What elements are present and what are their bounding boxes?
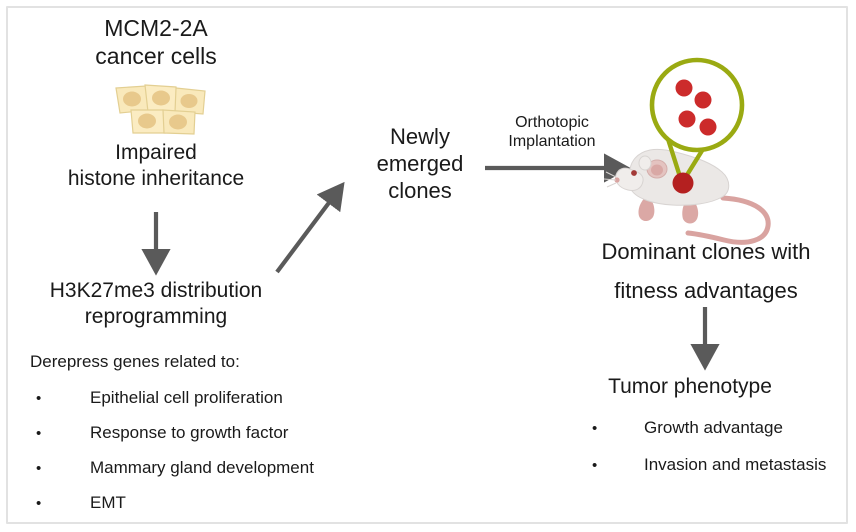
list-item-label: Invasion and metastasis xyxy=(644,455,826,475)
h3k27me3-reprogramming-label: H3K27me3 distribution reprogramming xyxy=(6,278,306,329)
bullet-marker-icon: • xyxy=(592,458,600,473)
list-item-label: Epithelial cell proliferation xyxy=(90,388,283,408)
title-line-2: cancer cells xyxy=(28,42,284,70)
newly-emerged-line-3: clones xyxy=(358,178,482,205)
h3k27me3-line-2: reprogramming xyxy=(6,304,306,330)
bullet-marker-icon: • xyxy=(36,496,44,511)
impaired-histone-inheritance-label: Impaired histone inheritance xyxy=(14,140,298,191)
dominant-line-2: fitness advantages xyxy=(560,272,852,311)
list-item: • Growth advantage xyxy=(592,418,852,438)
list-item-label: Mammary gland development xyxy=(90,458,314,478)
tumor-phenotype-heading: Tumor phenotype xyxy=(580,374,800,400)
bullet-marker-icon: • xyxy=(36,426,44,441)
derepress-genes-header: Derepress genes related to: xyxy=(30,352,240,373)
list-item-label: Response to growth factor xyxy=(90,423,288,443)
newly-emerged-clones-label: Newly emerged clones xyxy=(358,124,482,204)
mcm2-2a-cancer-cells-title: MCM2-2A cancer cells xyxy=(28,14,284,70)
list-item: • Epithelial cell proliferation xyxy=(36,388,366,408)
list-item-label: EMT xyxy=(90,493,126,513)
figure-canvas: MCM2-2A cancer cells Impaired xyxy=(0,0,856,532)
title-line-1: MCM2-2A xyxy=(28,14,284,42)
list-item: • Response to growth factor xyxy=(36,423,366,443)
list-item: • Invasion and metastasis xyxy=(592,455,852,475)
orthotopic-line-2: Implantation xyxy=(480,133,624,152)
h3k27me3-line-1: H3K27me3 distribution xyxy=(6,278,306,304)
impaired-line-2: histone inheritance xyxy=(14,166,298,192)
orthotopic-implantation-label: Orthotopic Implantation xyxy=(480,114,624,152)
bullet-marker-icon: • xyxy=(36,461,44,476)
list-item: • EMT xyxy=(36,493,366,513)
newly-emerged-line-2: emerged xyxy=(358,151,482,178)
list-item: • Mammary gland development xyxy=(36,458,366,478)
orthotopic-line-1: Orthotopic xyxy=(480,114,624,133)
bullet-marker-icon: • xyxy=(592,421,600,436)
list-item-label: Growth advantage xyxy=(644,418,783,438)
dominant-clones-label: Dominant clones with fitness advantages xyxy=(560,233,852,310)
impaired-line-1: Impaired xyxy=(14,140,298,166)
bullet-marker-icon: • xyxy=(36,391,44,406)
dominant-line-1: Dominant clones with xyxy=(560,233,852,272)
newly-emerged-line-1: Newly xyxy=(358,124,482,151)
